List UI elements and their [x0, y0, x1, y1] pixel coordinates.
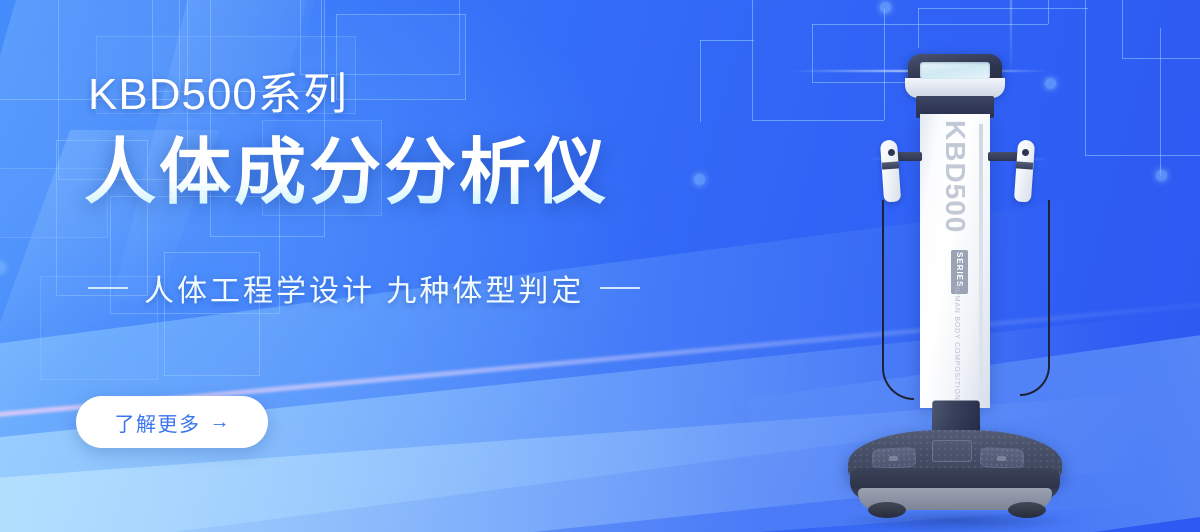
page-title: 人体成分分析仪 — [84, 134, 609, 213]
device-cable-right — [1020, 200, 1050, 396]
arrow-right-icon: → — [210, 412, 230, 432]
device-column-stripe — [979, 124, 983, 398]
device-grip-band-right — [1016, 161, 1033, 169]
hero-banner: KBD500系列 人体成分分析仪 人体工程学设计 九种体型判定 了解更多 → K… — [0, 0, 1200, 532]
device-screen-rim — [905, 78, 1005, 98]
device-grip-electrode-right — [1022, 149, 1029, 156]
device-grip-band-left — [882, 161, 899, 169]
hero-content: KBD500系列 人体成分分析仪 人体工程学设计 九种体型判定 了解更多 → — [0, 0, 700, 532]
circuit-trace-v9 — [700, 40, 701, 122]
circuit-trace-h6 — [918, 8, 1088, 9]
device-display-screen — [920, 62, 990, 79]
device-series-badge-text: SERIES — [955, 252, 964, 287]
learn-more-label: 了解更多 — [115, 408, 201, 437]
dash-left-icon — [88, 287, 128, 289]
device-cable-left — [882, 200, 914, 400]
circuit-node-1 — [880, 2, 891, 13]
device-arm-right — [988, 152, 1018, 161]
device-foot-electrode-left — [889, 456, 898, 461]
circuit-node-2 — [1156, 170, 1167, 181]
circuit-trace-h7 — [700, 40, 754, 41]
subtitle-row: 人体工程学设计 九种体型判定 — [88, 266, 640, 310]
circuit-trace-v1 — [752, 0, 753, 120]
circuit-trace-h2 — [812, 24, 1048, 25]
circuit-trace-v7 — [1160, 28, 1161, 176]
product-series-label: KBD500系列 — [88, 70, 348, 119]
circuit-trace-v3 — [812, 24, 813, 82]
device-grip-electrode-left — [888, 149, 895, 156]
device-brand-text: KBD500 — [941, 120, 969, 233]
learn-more-button[interactable]: 了解更多 → — [76, 396, 268, 448]
device-center-plate — [932, 440, 972, 462]
device-foot-electrode-right — [997, 456, 1006, 461]
dash-right-icon — [600, 287, 640, 289]
subtitle-text: 人体工程学设计 九种体型判定 — [144, 266, 584, 310]
circuit-trace-v4 — [1048, 0, 1049, 24]
device-ground-shadow — [840, 510, 1076, 532]
product-image-body-composition-analyzer: KBD500 SERIES HUMAN BODY COMPOSITION ANA… — [820, 36, 1150, 532]
device-brand-label: KBD500 — [932, 120, 978, 250]
